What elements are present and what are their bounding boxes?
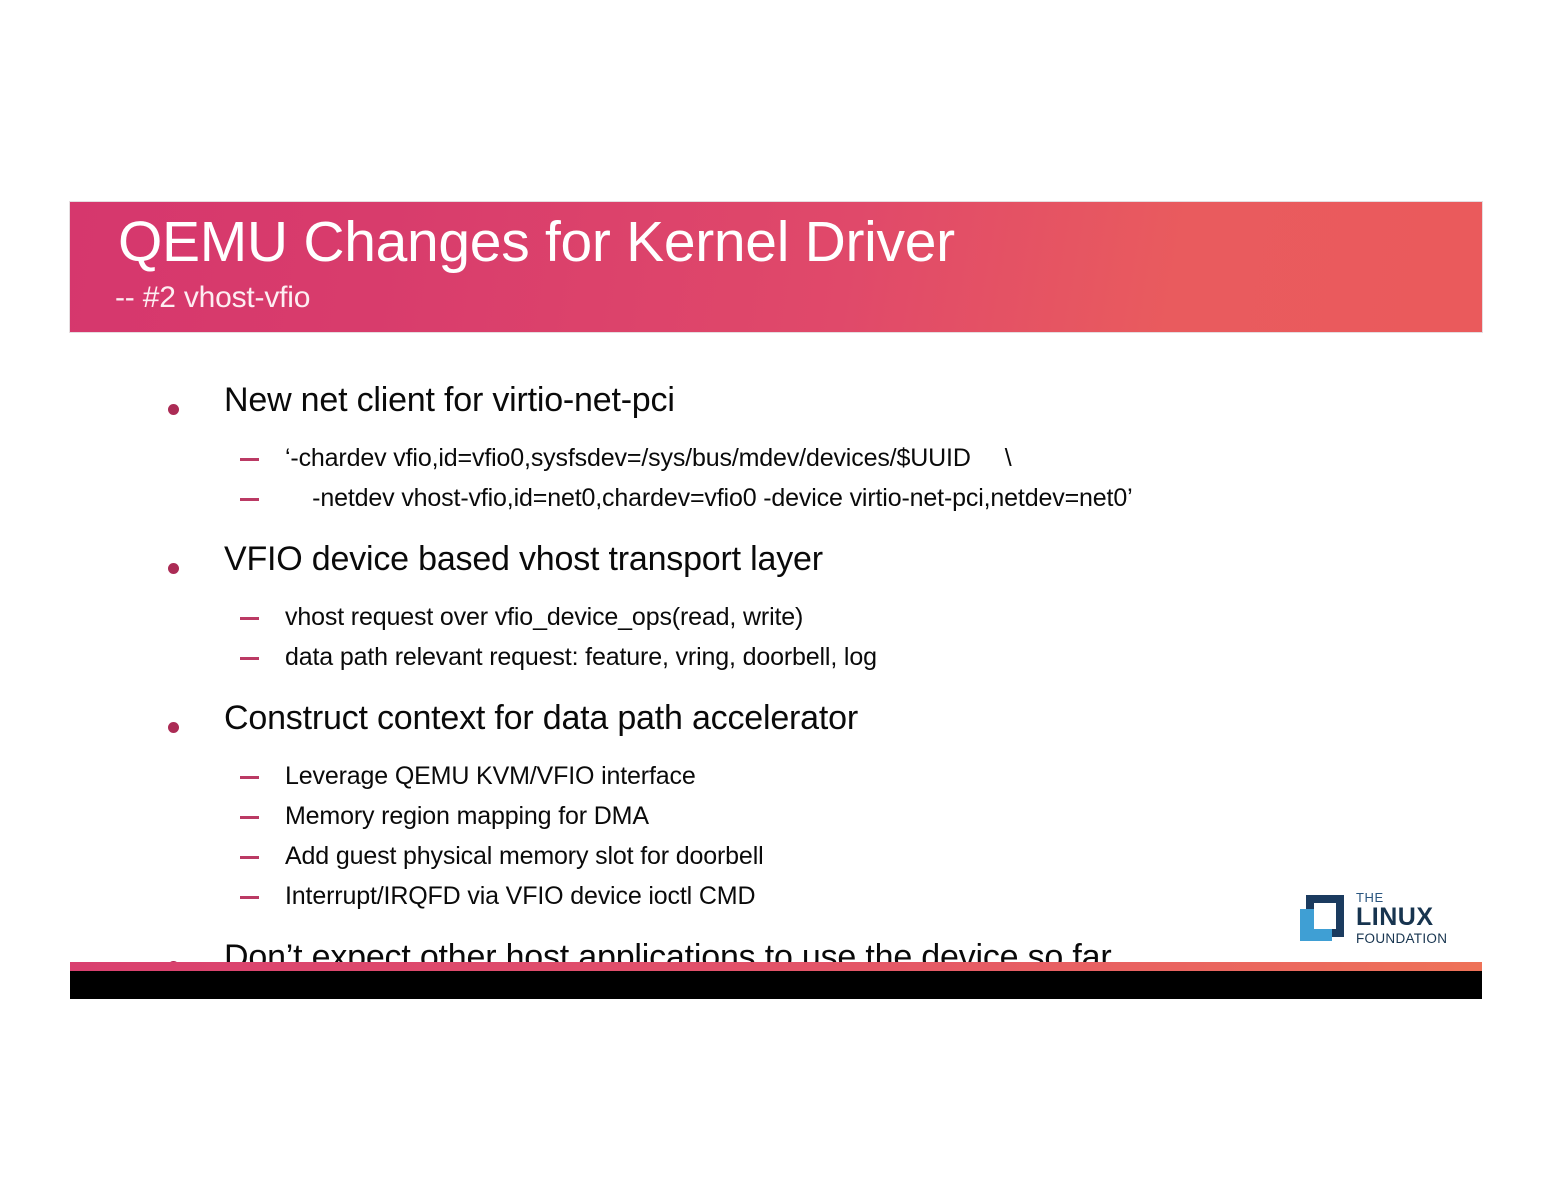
dash-icon	[240, 776, 285, 779]
bullet-item: VFIO device based vhost transport layer	[0, 539, 1552, 590]
sub-bullet-label: vhost request over vfio_device_ops(read,…	[285, 600, 1552, 634]
bullet-dot-icon	[168, 380, 224, 420]
bullet-label: VFIO device based vhost transport layer	[224, 539, 1552, 579]
linux-foundation-mark-icon	[1298, 893, 1348, 943]
page-subtitle: -- #2 vhost-vfio	[115, 281, 310, 314]
page-title: QEMU Changes for Kernel Driver	[118, 213, 955, 273]
logo-line-foundation: FOUNDATION	[1356, 932, 1447, 946]
sub-bullet-item: -netdev vhost-vfio,id=net0,chardev=vfio0…	[0, 481, 1552, 521]
sub-bullet-label: Memory region mapping for DMA	[285, 799, 1552, 833]
footer-black-bar	[70, 971, 1482, 999]
sub-bullet-label: -netdev vhost-vfio,id=net0,chardev=vfio0…	[285, 481, 1552, 515]
slide: QEMU Changes for Kernel Driver -- #2 vho…	[0, 0, 1552, 1199]
sub-bullet-item: vhost request over vfio_device_ops(read,…	[0, 600, 1552, 640]
sub-bullet-item: Leverage QEMU KVM/VFIO interface	[0, 759, 1552, 799]
logo-line-linux: LINUX	[1356, 905, 1447, 931]
slide-header-band: QEMU Changes for Kernel Driver -- #2 vho…	[70, 202, 1482, 332]
dash-icon	[240, 657, 285, 660]
linux-foundation-logo: THE LINUX FOUNDATION	[1298, 888, 1458, 948]
bullet-dot-icon	[168, 698, 224, 738]
bullet-label: New net client for virtio-net-pci	[224, 380, 1552, 420]
dash-icon	[240, 856, 285, 859]
sub-bullet-item: Add guest physical memory slot for doorb…	[0, 839, 1552, 879]
footer-accent-bar	[70, 962, 1482, 971]
bullet-item: New net client for virtio-net-pci	[0, 380, 1552, 431]
sub-bullet-item: Memory region mapping for DMA	[0, 799, 1552, 839]
dash-icon	[240, 617, 285, 620]
bullet-label: Construct context for data path accelera…	[224, 698, 1552, 738]
logo-line-the: THE	[1356, 891, 1447, 904]
dash-icon	[240, 896, 285, 899]
sub-bullet-label: Leverage QEMU KVM/VFIO interface	[285, 759, 1552, 793]
dash-icon	[240, 816, 285, 819]
sub-bullet-label: Add guest physical memory slot for doorb…	[285, 839, 1552, 873]
dash-icon	[240, 498, 285, 501]
bullet-item: Construct context for data path accelera…	[0, 698, 1552, 749]
sub-bullet-label: ‘-chardev vfio,id=vfio0,sysfsdev=/sys/bu…	[285, 441, 1552, 475]
sub-bullet-label: data path relevant request: feature, vri…	[285, 640, 1552, 674]
bullet-dot-icon	[168, 539, 224, 579]
linux-foundation-wordmark: THE LINUX FOUNDATION	[1356, 891, 1447, 946]
sub-bullet-item: data path relevant request: feature, vri…	[0, 640, 1552, 680]
sub-bullet-item: ‘-chardev vfio,id=vfio0,sysfsdev=/sys/bu…	[0, 441, 1552, 481]
dash-icon	[240, 458, 285, 461]
